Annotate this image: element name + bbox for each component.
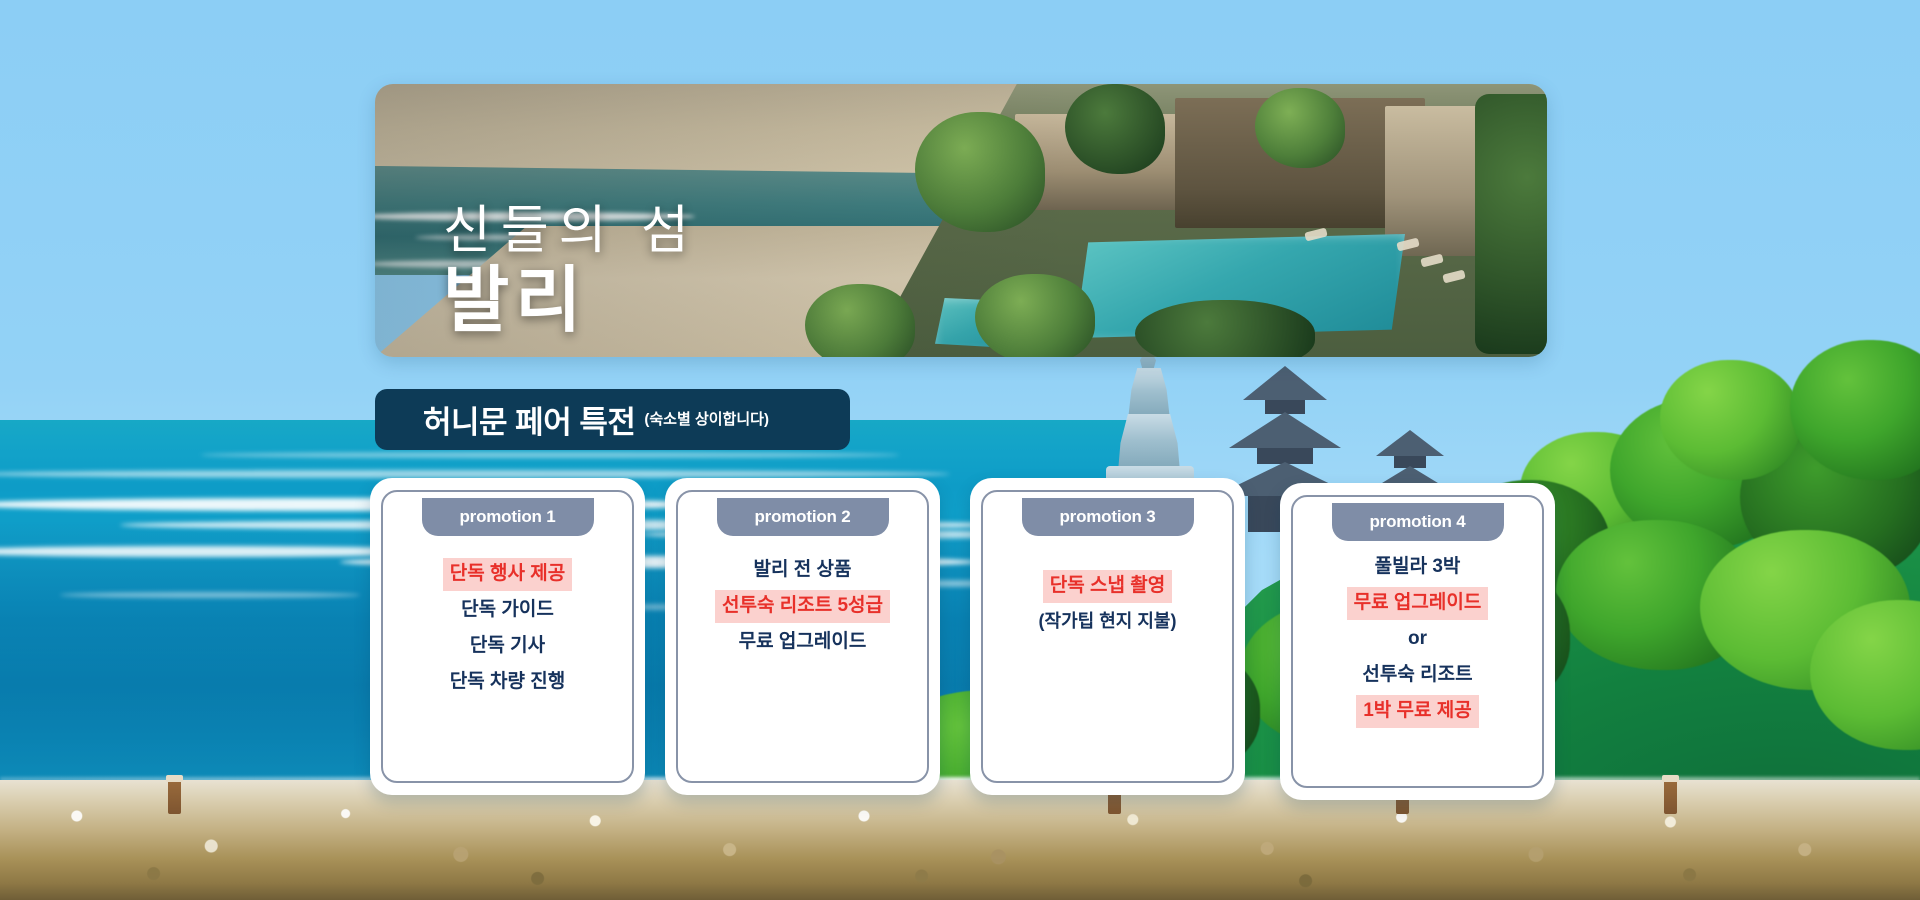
- promotion-card[interactable]: promotion 3 단독 스냅 촬영 (작가팁 현지 지불): [970, 478, 1245, 795]
- card-body: 단독 행사 제공 단독 가이드 단독 기사 단독 차량 진행: [370, 558, 645, 699]
- card-tab-label: promotion 3: [1022, 498, 1194, 536]
- card-line-highlight: 단독 행사 제공: [443, 558, 572, 591]
- card-tab-label: promotion 1: [422, 498, 594, 536]
- card-tab-label: promotion 2: [717, 498, 889, 536]
- card-line: 선투숙 리조트: [1355, 659, 1479, 692]
- card-line: 단독 차량 진행: [443, 666, 572, 699]
- card-line: 무료 업그레이드: [732, 626, 874, 659]
- card-line: (작가팁 현지 지불): [1032, 606, 1184, 638]
- card-line-highlight: 단독 스냅 촬영: [1043, 570, 1172, 603]
- card-tab-label: promotion 4: [1332, 503, 1504, 541]
- card-body: 풀빌라 3박 무료 업그레이드 or 선투숙 리조트 1박 무료 제공: [1280, 551, 1555, 728]
- card-line: 풀빌라 3박: [1368, 551, 1468, 584]
- promotion-card[interactable]: promotion 2 발리 전 상품 선투숙 리조트 5성급 무료 업그레이드: [665, 478, 940, 795]
- card-line-highlight: 1박 무료 제공: [1356, 695, 1479, 728]
- card-body: 발리 전 상품 선투숙 리조트 5성급 무료 업그레이드: [665, 554, 940, 659]
- card-line: 단독 기사: [463, 630, 552, 663]
- card-line: 단독 가이드: [454, 594, 561, 627]
- card-body: 단독 스냅 촬영 (작가팁 현지 지불): [970, 570, 1245, 638]
- card-line-highlight: 무료 업그레이드: [1347, 587, 1489, 620]
- page-content: 신들의 섬 발리 허니문 페어 특전 (숙소별 상이합니다) promotion…: [0, 0, 1920, 900]
- promotion-card[interactable]: promotion 1 단독 행사 제공 단독 가이드 단독 기사 단독 차량 …: [370, 478, 645, 795]
- card-line: or: [1401, 623, 1434, 656]
- promotion-card[interactable]: promotion 4 풀빌라 3박 무료 업그레이드 or 선투숙 리조트 1…: [1280, 483, 1555, 800]
- promotion-card-list: promotion 1 단독 행사 제공 단독 가이드 단독 기사 단독 차량 …: [0, 0, 1920, 900]
- card-line: 발리 전 상품: [747, 554, 859, 587]
- card-line-highlight: 선투숙 리조트 5성급: [715, 590, 890, 623]
